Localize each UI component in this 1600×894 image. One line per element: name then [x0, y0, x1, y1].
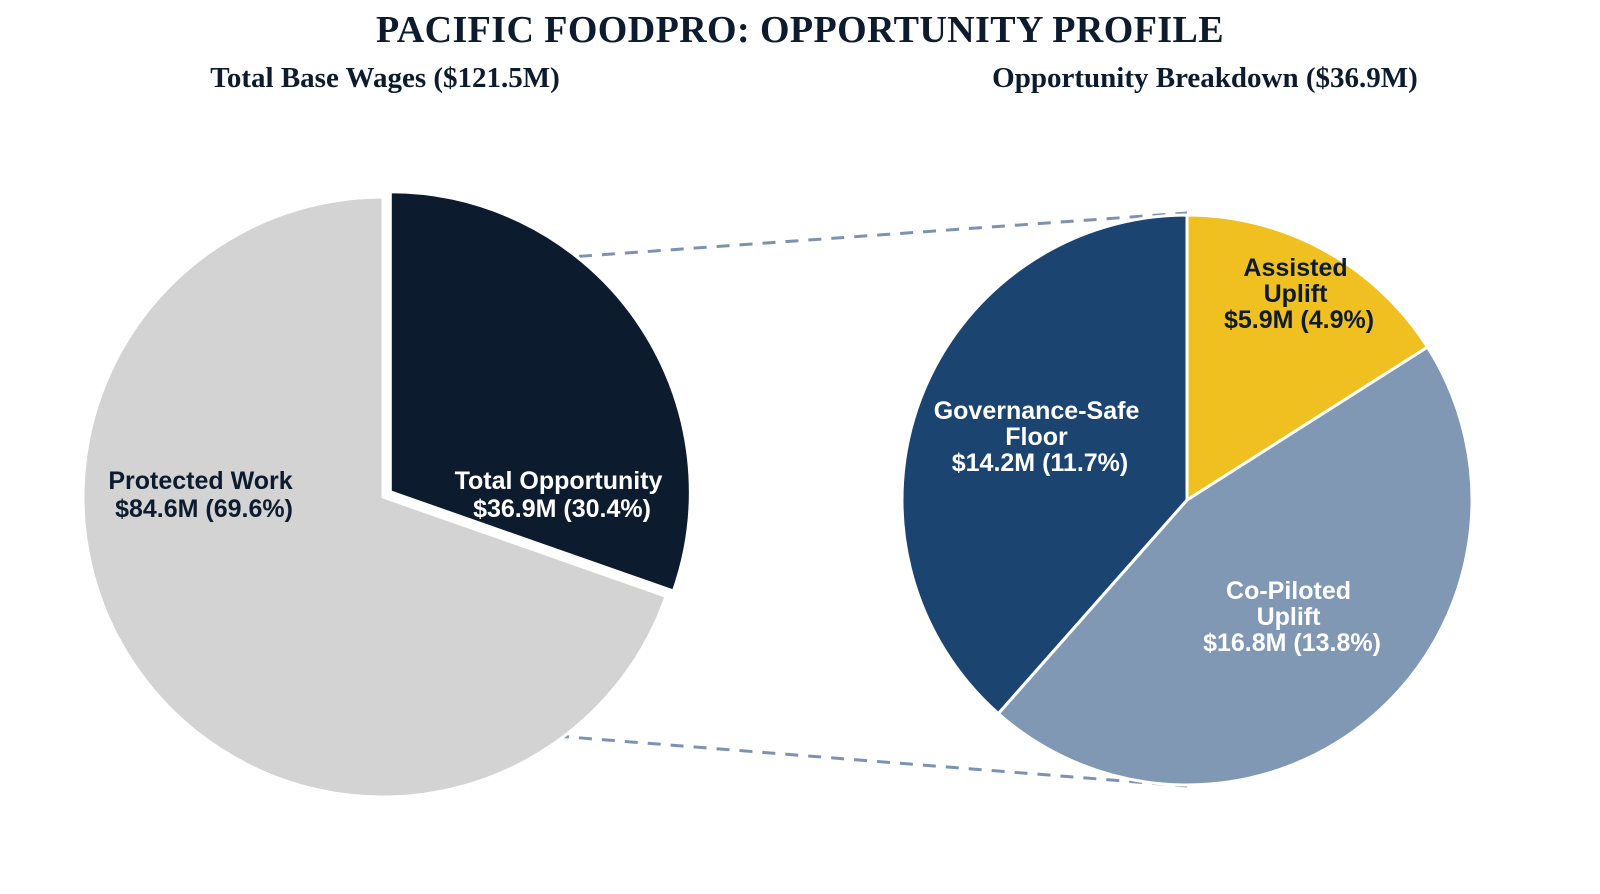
label-governance-floor-name2: Floor: [1005, 423, 1068, 451]
label-assisted-uplift-value: $5.9M (4.9%): [1224, 306, 1374, 334]
label-copiloted-uplift-name2: Uplift: [1257, 603, 1322, 631]
label-total-opportunity-value: $36.9M (30.4%): [473, 495, 651, 523]
label-governance-floor-value: $14.2M (11.7%): [952, 449, 1129, 477]
label-total-opportunity: Total Opportunity $36.9M (30.4%): [455, 467, 670, 523]
label-total-opportunity-name: Total Opportunity: [455, 467, 663, 495]
label-assisted-uplift-name1: Assisted: [1243, 254, 1347, 282]
label-copiloted-uplift-value: $16.8M (13.8%): [1203, 629, 1381, 657]
label-governance-floor-name1: Governance-Safe: [934, 397, 1140, 425]
pie-charts-svg: Protected Work $84.6M (69.6%) Total Oppo…: [0, 0, 1600, 894]
label-protected-work-value: $84.6M (69.6%): [115, 495, 293, 523]
chart-canvas: PACIFIC FOODPRO: OPPORTUNITY PROFILE Tot…: [0, 0, 1600, 894]
right-pie-group: Assisted Uplift $5.9M (4.9%) Governance-…: [902, 215, 1472, 785]
label-assisted-uplift-name2: Uplift: [1264, 280, 1329, 308]
label-protected-work: Protected Work $84.6M (69.6%): [108, 467, 299, 523]
label-protected-work-name: Protected Work: [108, 467, 292, 495]
label-copiloted-uplift-name1: Co-Piloted: [1226, 577, 1351, 605]
left-pie-group: Protected Work $84.6M (69.6%) Total Oppo…: [83, 192, 690, 797]
